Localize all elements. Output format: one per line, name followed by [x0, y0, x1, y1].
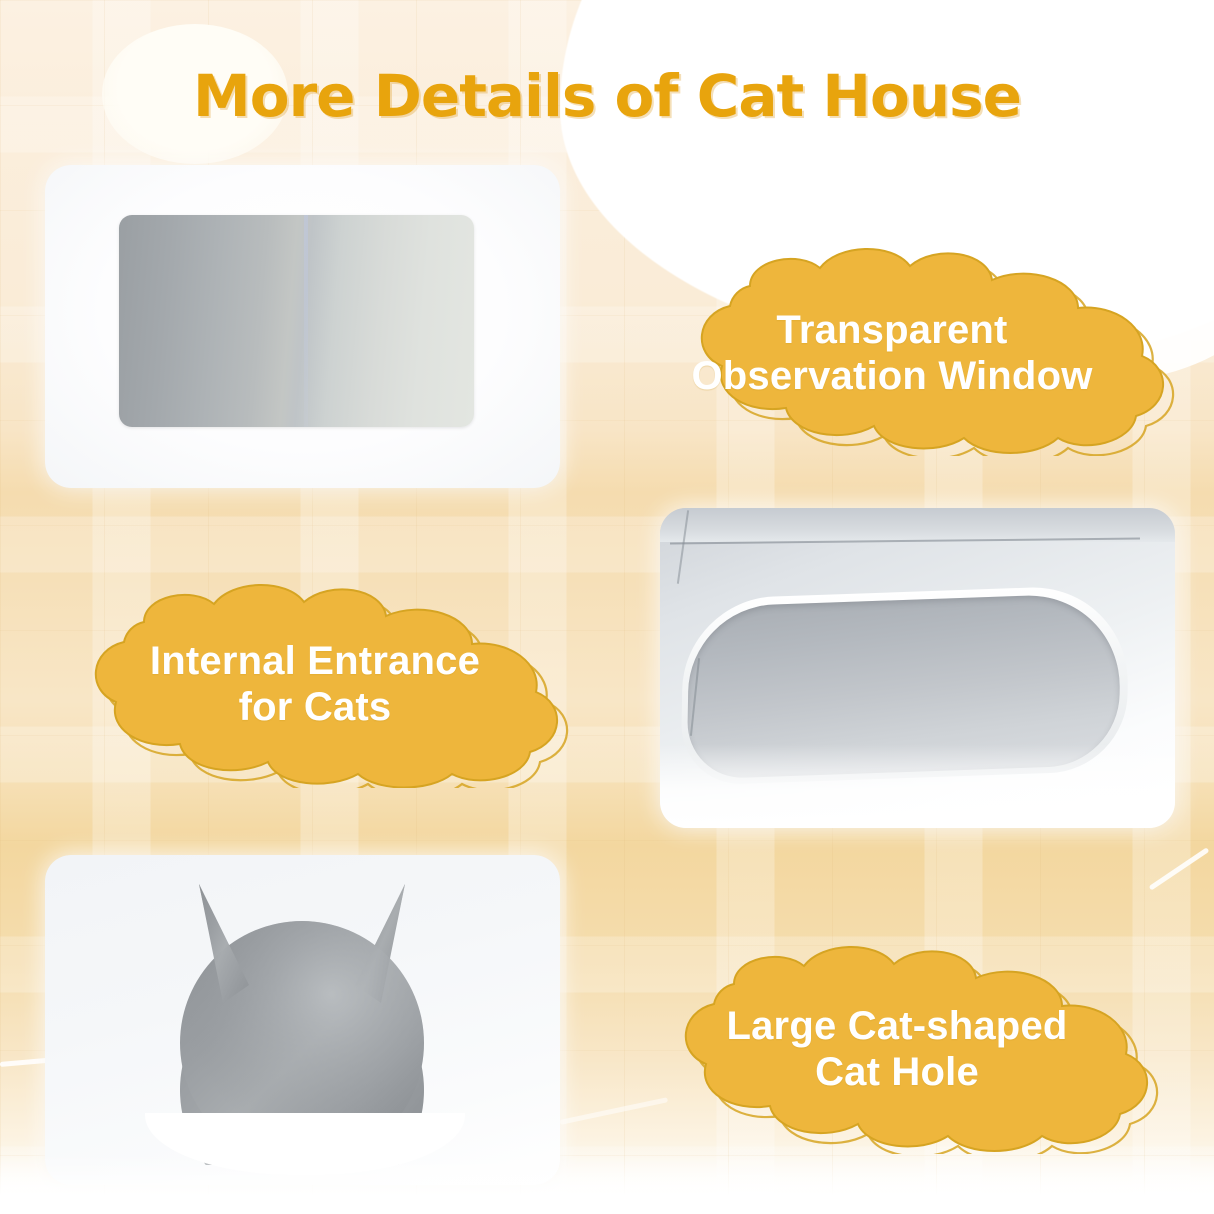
- photo-transparent-observation-window: [45, 165, 560, 488]
- callout-internal-entrance-for-cats: Internal Entrance for Cats: [30, 578, 630, 788]
- callout-transparent-observation-window: Transparent Observation Window: [592, 246, 1192, 456]
- photo-internal-entrance-for-cats: [660, 508, 1175, 828]
- interior-ceiling: [660, 508, 1175, 542]
- callout-label: Internal Entrance for Cats: [30, 578, 630, 788]
- infographic-root: More Details of Cat House Transparent Ob…: [0, 0, 1214, 1214]
- photo-large-cat-shaped-cat-hole: [45, 855, 560, 1185]
- callout-label: Transparent Observation Window: [592, 246, 1192, 456]
- callout-label: Large Cat-shaped Cat Hole: [582, 942, 1192, 1154]
- callout-large-cat-shaped-cat-hole: Large Cat-shaped Cat Hole: [582, 942, 1192, 1154]
- background-bottom-fade: [0, 1154, 1214, 1214]
- page-title: More Details of Cat House: [0, 62, 1214, 130]
- interior-floor-highlight: [660, 744, 1175, 828]
- acrylic-window-panel: [119, 215, 474, 427]
